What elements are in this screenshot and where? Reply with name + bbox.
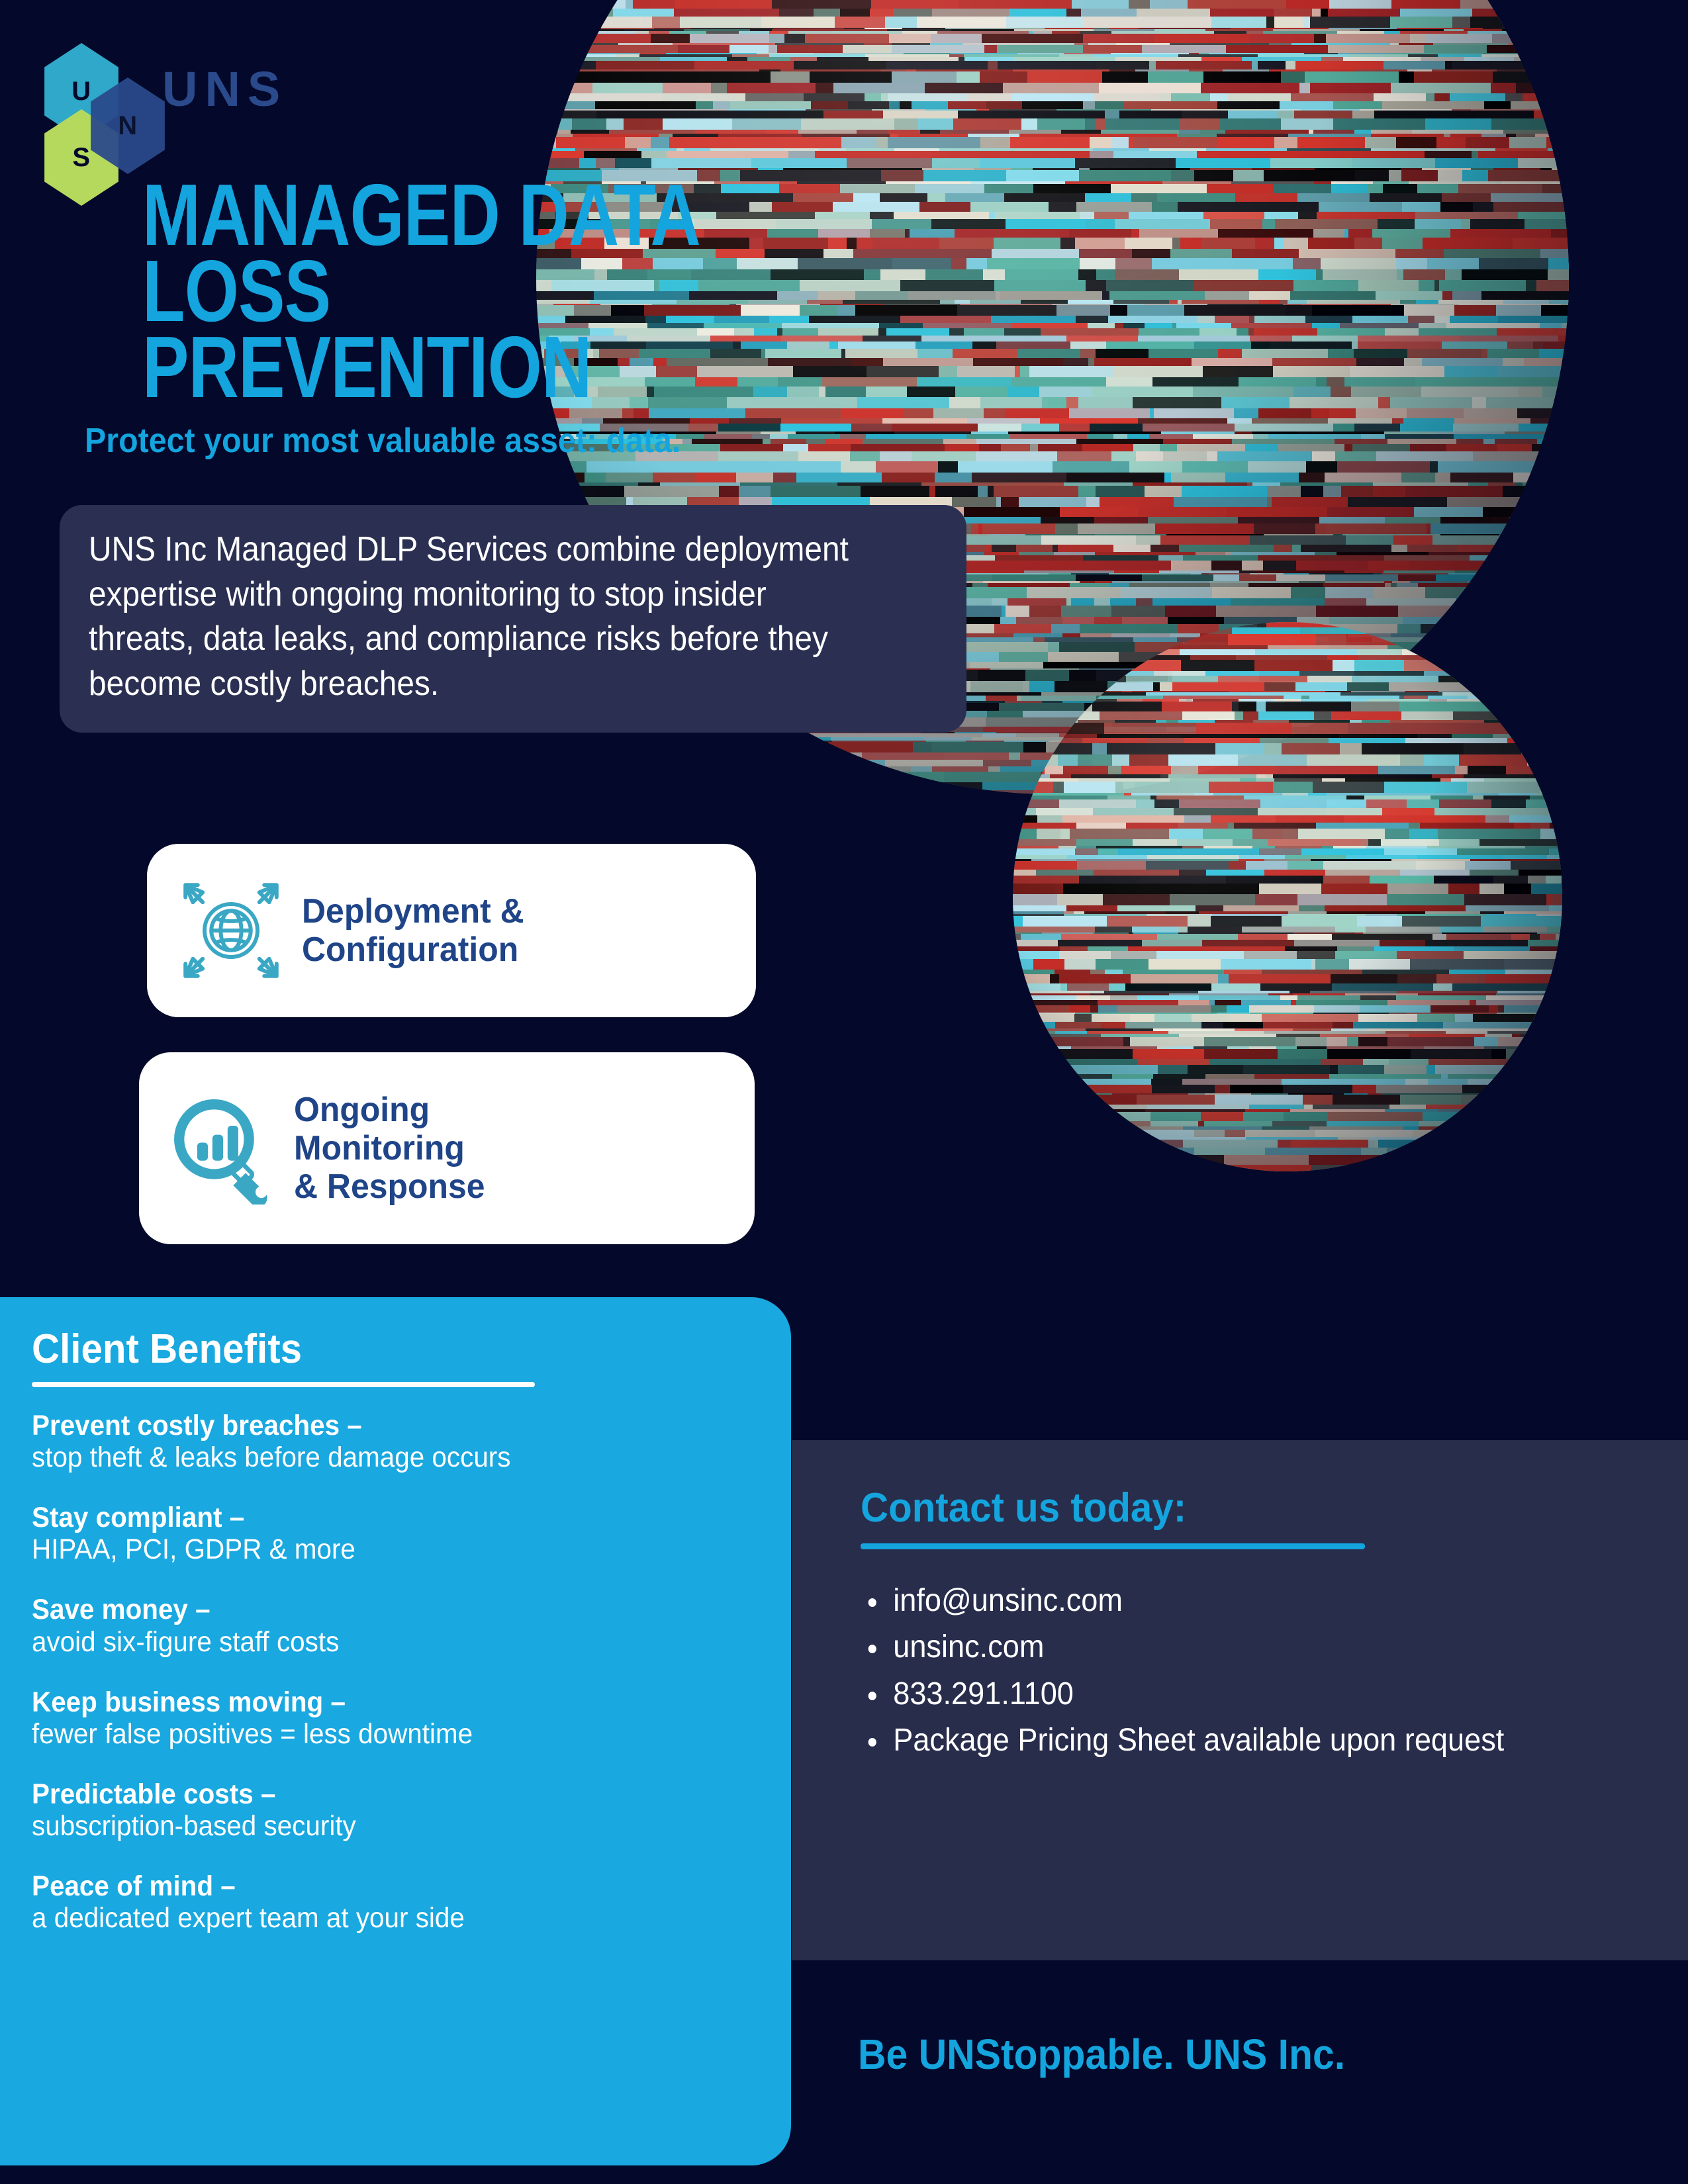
intro-description-text: UNS Inc Managed DLP Services combine dep… [89, 527, 869, 706]
contact-phone[interactable]: 833.291.1100 [865, 1674, 1595, 1714]
client-benefits-panel: Client Benefits Prevent costly breaches … [0, 1297, 791, 2165]
benefit-detail: HIPAA, PCI, GDPR & more [32, 1533, 708, 1566]
page-title: MANAGED DATA LOSS PREVENTION [142, 177, 831, 405]
benefit-title: Prevent costly breaches – [32, 1410, 708, 1441]
service-card-deployment[interactable]: Deployment & Configuration [147, 844, 756, 1017]
benefit-title: Save money – [32, 1594, 708, 1625]
list-item: Peace of mind – a dedicated expert team … [32, 1870, 751, 1934]
list-item: Save money – avoid six-figure staff cost… [32, 1594, 751, 1658]
list-item: Prevent costly breaches – stop theft & l… [32, 1410, 751, 1474]
footer-tagline: Be UNStoppable. UNS Inc. [858, 2033, 1345, 2075]
benefit-title: Keep business moving – [32, 1686, 708, 1718]
list-item: Keep business moving – fewer false posit… [32, 1686, 751, 1751]
logo-hex-n: N [85, 77, 171, 174]
logo-hex-n-letter: N [118, 111, 137, 141]
glitch-sphere-small [1013, 622, 1562, 1171]
contact-website[interactable]: unsinc.com [865, 1627, 1595, 1667]
benefit-detail: avoid six-figure staff costs [32, 1626, 708, 1659]
contact-divider [861, 1543, 1365, 1549]
contact-title: Contact us today: [861, 1488, 1595, 1529]
benefit-detail: fewer false positives = less downtime [32, 1718, 708, 1751]
client-benefits-title: Client Benefits [32, 1329, 708, 1370]
benefit-title: Stay compliant – [32, 1502, 708, 1533]
logo-wordmark: UNS [162, 65, 287, 114]
client-benefits-list: Prevent costly breaches – stop theft & l… [32, 1410, 751, 1934]
uns-logo[interactable]: U S N [26, 36, 159, 189]
benefit-detail: subscription-based security [32, 1810, 708, 1843]
benefit-title: Predictable costs – [32, 1778, 708, 1810]
client-benefits-divider [32, 1382, 535, 1387]
contact-pricing-note: Package Pricing Sheet available upon req… [865, 1721, 1595, 1760]
service-card-deployment-label: Deployment & Configuration [302, 892, 524, 969]
contact-email[interactable]: info@unsinc.com [865, 1581, 1595, 1621]
benefit-detail: a dedicated expert team at your side [32, 1902, 708, 1934]
benefit-title: Peace of mind – [32, 1870, 708, 1902]
service-card-monitoring-label: Ongoing Monitoring & Response [294, 1091, 485, 1206]
benefit-detail: stop theft & leaks before damage occurs [32, 1441, 708, 1474]
page-subtitle: Protect your most valuable asset: data. [85, 422, 947, 460]
list-item: Stay compliant – HIPAA, PCI, GDPR & more [32, 1502, 751, 1566]
poster-root: U S N UNS MANAGED DATA LOSS PREVENTION P… [0, 0, 1688, 2184]
magnifier-chart-icon [162, 1087, 285, 1210]
list-item: Predictable costs – subscription-based s… [32, 1778, 751, 1843]
globe-expand-icon [169, 869, 293, 992]
intro-description-card: UNS Inc Managed DLP Services combine dep… [60, 505, 966, 733]
contact-list: info@unsinc.com unsinc.com 833.291.1100 … [861, 1581, 1642, 1761]
contact-panel: Contact us today: info@unsinc.com unsinc… [792, 1440, 1688, 1960]
service-card-monitoring[interactable]: Ongoing Monitoring & Response [139, 1052, 755, 1244]
